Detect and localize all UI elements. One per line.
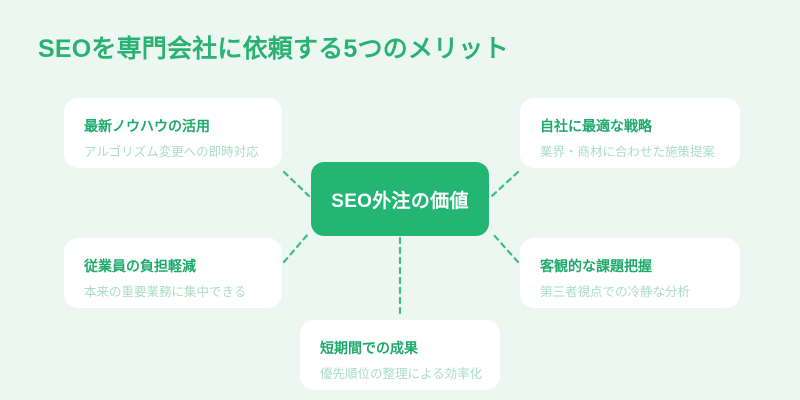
benefit-card-top-left[interactable]: 最新ノウハウの活用 アルゴリズム変更への即時対応 (64, 98, 282, 168)
benefit-card-description: 本来の重要業務に集中できる (84, 283, 262, 301)
benefit-card-bottom-left[interactable]: 従業員の負担軽減 本来の重要業務に集中できる (64, 238, 282, 308)
center-node[interactable]: SEO外注の価値 (311, 162, 489, 236)
benefit-card-description: アルゴリズム変更への即時対応 (84, 143, 262, 161)
benefit-card-title: 短期間での成果 (320, 338, 480, 358)
benefit-card-bottom-right[interactable]: 客観的な課題把握 第三者視点での冷静な分析 (520, 238, 740, 308)
benefit-card-description: 業界・商材に合わせた施策提案 (540, 143, 720, 161)
center-node-label: SEO外注の価値 (331, 186, 469, 213)
connector-bottom-left (284, 233, 309, 262)
benefit-card-description: 優先順位の整理による効率化 (320, 365, 480, 383)
benefit-card-title: 最新ノウハウの活用 (84, 116, 262, 136)
connector-top-right (492, 172, 518, 196)
benefit-card-title: 従業員の負担軽減 (84, 256, 262, 276)
benefit-card-top-right[interactable]: 自社に最適な戦略 業界・商材に合わせた施策提案 (520, 98, 740, 168)
infographic-canvas: SEOを専門会社に依頼する5つのメリット SEO外注の価値 最新ノウハウの活用 … (0, 0, 800, 400)
benefit-card-description: 第三者視点での冷静な分析 (540, 283, 720, 301)
connector-top-left (284, 172, 309, 196)
benefit-card-title: 自社に最適な戦略 (540, 116, 720, 136)
page-title: SEOを専門会社に依頼する5つのメリット (38, 32, 509, 66)
connector-bottom-right (492, 233, 518, 262)
benefit-card-title: 客観的な課題把握 (540, 256, 720, 276)
benefit-card-bottom-center[interactable]: 短期間での成果 優先順位の整理による効率化 (300, 320, 500, 390)
